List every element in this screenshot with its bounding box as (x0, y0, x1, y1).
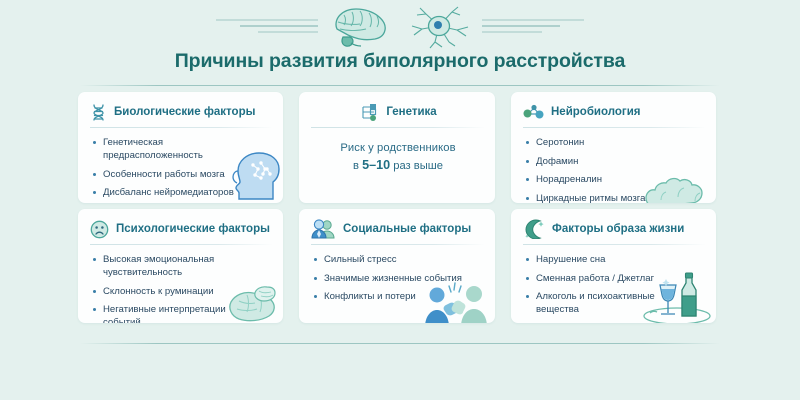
card-title-rule (523, 244, 706, 245)
list-item: Негативные интерпретации событий (90, 303, 262, 323)
list-item: Серотонин (523, 136, 695, 149)
bullet-list: Нарушение сна Сменная работа / Джетлаг А… (523, 253, 706, 316)
card-title: Нейробиология (551, 106, 640, 118)
sad-face-icon (90, 220, 109, 239)
card-title: Факторы образа жизни (552, 223, 684, 235)
neuron-icon (402, 2, 476, 50)
list-item: Алкоголь и психоактивные вещества (523, 290, 663, 316)
molecule-icon (523, 103, 544, 121)
header-icon-row (0, 2, 800, 50)
two-people-icon (311, 219, 336, 239)
stat-suffix: раз выше (390, 160, 443, 172)
card-header: Психологические факторы (90, 218, 273, 240)
card-header: Факторы образа жизни (523, 218, 706, 240)
factors-grid: Биологические факторы Генетическая предр… (78, 92, 722, 323)
card-title-rule (311, 244, 485, 245)
card-header: Нейробиология (523, 101, 706, 123)
bullet-list: Генетическая предрасположенность Особенн… (90, 136, 273, 203)
card-neurobiology[interactable]: Нейробиология Серотонин Дофамин Норадрен… (511, 92, 716, 203)
dna-icon (90, 103, 107, 122)
list-item: Нарушение сна (523, 253, 695, 266)
list-item: Особенности работы мозга (90, 168, 262, 181)
list-item: Дофамин (523, 155, 695, 168)
card-title-rule (523, 127, 706, 128)
stat-prefix: в (353, 160, 362, 172)
card-header: Генетика (311, 101, 485, 123)
speed-lines-right-icon (476, 11, 586, 41)
list-item: Генетическая предрасположенность (90, 136, 262, 162)
list-item: Сменная работа / Джетлаг (523, 272, 695, 285)
card-social[interactable]: Социальные факторы Сильный стресс Значим… (299, 209, 495, 323)
card-title-rule (311, 127, 485, 128)
card-title-rule (90, 244, 273, 245)
infographic-header: Причины развития биполярного расстройств… (0, 0, 800, 86)
card-psychological[interactable]: Психологические факторы Высокая эмоциона… (78, 209, 283, 323)
list-item: Сильный стресс (311, 253, 483, 266)
genetics-stat-value-line: в 5–10 раз выше (311, 158, 485, 172)
list-item: Значимые жизненные события (311, 272, 483, 285)
moon-stars-icon (523, 219, 545, 239)
card-title: Генетика (386, 106, 436, 118)
stat-value: 5–10 (362, 158, 390, 172)
family-tree-icon (359, 103, 379, 122)
list-item: Склонность к руминации (90, 285, 262, 298)
card-header: Социальные факторы (311, 218, 485, 240)
list-item: Норадреналин (523, 173, 695, 186)
card-title-rule (90, 127, 273, 128)
card-biological[interactable]: Биологические факторы Генетическая предр… (78, 92, 283, 203)
list-item: Высокая эмоциональная чувствительность (90, 253, 262, 279)
genetics-stat-label: Риск у родственников (311, 142, 485, 154)
card-title: Биологические факторы (114, 106, 255, 118)
list-item: Дисбаланс нейромедиаторов (90, 186, 262, 199)
bullet-list: Высокая эмоциональная чувствительность С… (90, 253, 273, 323)
card-lifestyle[interactable]: Факторы образа жизни Нарушение сна Сменн… (511, 209, 716, 323)
card-title: Социальные факторы (343, 223, 471, 235)
bullet-list: Серотонин Дофамин Норадреналин Циркадные… (523, 136, 706, 203)
card-header: Биологические факторы (90, 101, 273, 123)
card-genetics[interactable]: Генетика Риск у родственников в 5–10 раз… (299, 92, 495, 203)
bottom-divider (80, 343, 720, 344)
speed-lines-left-icon (214, 11, 324, 41)
list-item: Циркадные ритмы мозга (523, 192, 695, 204)
bullet-list: Сильный стресс Значимые жизненные событи… (311, 253, 485, 303)
top-divider (80, 85, 720, 86)
brain-icon (324, 2, 402, 50)
genetics-stat: Риск у родственников в 5–10 раз выше (311, 142, 485, 172)
list-item: Конфликты и потери (311, 290, 483, 303)
card-title: Психологические факторы (116, 223, 270, 235)
page-title: Причины развития биполярного расстройств… (0, 50, 800, 73)
